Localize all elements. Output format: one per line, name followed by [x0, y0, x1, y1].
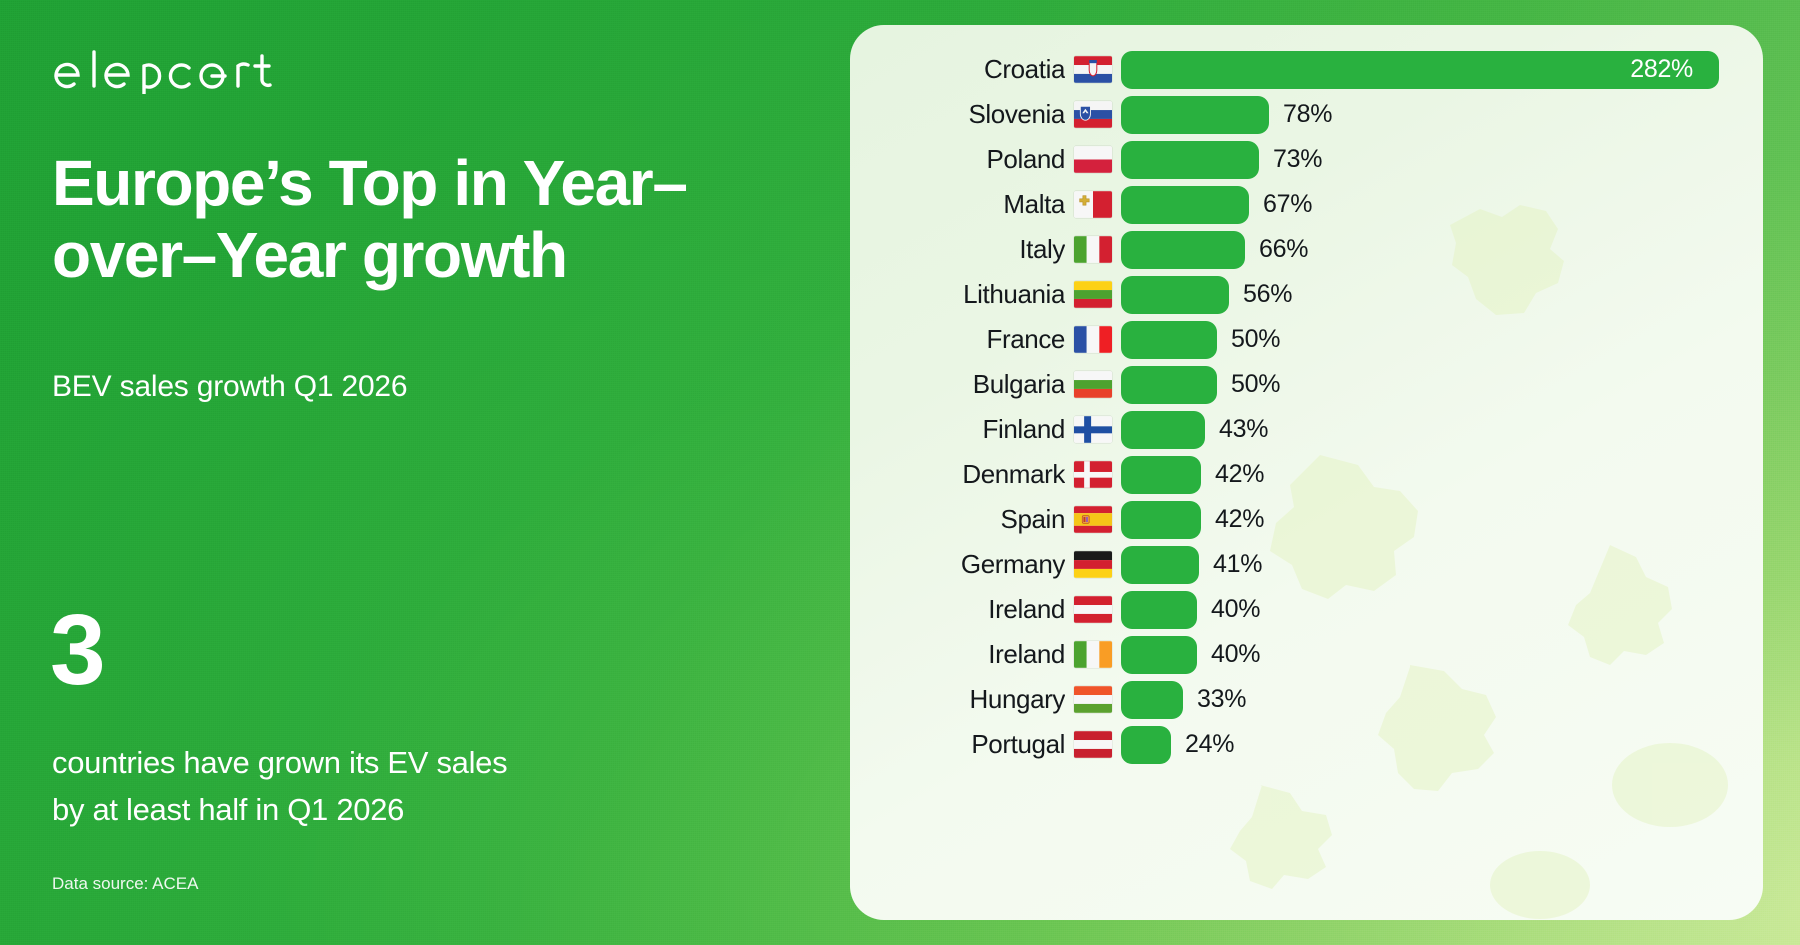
- bar-track: 50%: [1121, 362, 1763, 407]
- flag-es-icon: [1074, 506, 1112, 533]
- value-label: 43%: [1219, 415, 1268, 444]
- bar-row: Italy66%: [850, 227, 1763, 272]
- flag-cell: [1065, 371, 1121, 398]
- flag-cell: [1065, 731, 1121, 758]
- flag-pl-icon: [1074, 146, 1112, 173]
- flag-hr-icon: [1074, 56, 1112, 83]
- left-panel: Europe’s Top in Year– over–Year growth B…: [0, 0, 820, 945]
- flag-cell: [1065, 281, 1121, 308]
- value-bar: [1121, 231, 1245, 269]
- flag-de-icon: [1074, 551, 1112, 578]
- flag-cell: [1065, 641, 1121, 668]
- country-label: Poland: [850, 144, 1065, 175]
- value-bar: [1121, 636, 1197, 674]
- infographic-canvas: Europe’s Top in Year– over–Year growth B…: [0, 0, 1800, 945]
- value-label: 40%: [1211, 640, 1260, 669]
- flag-pt-icon: [1074, 731, 1112, 758]
- country-label: Finland: [850, 414, 1065, 445]
- country-label: Italy: [850, 234, 1065, 265]
- bar-row: Finland43%: [850, 407, 1763, 452]
- bar-track: 67%: [1121, 182, 1763, 227]
- stat-description: countries have grown its EV sales by at …: [52, 740, 752, 833]
- bar-row: Bulgaria50%: [850, 362, 1763, 407]
- country-label: Portugal: [850, 729, 1065, 760]
- country-label: Croatia: [850, 54, 1065, 85]
- bar-chart: Croatia282%Slovenia78%Poland73%Malta67%I…: [850, 25, 1763, 920]
- bar-row: Poland73%: [850, 137, 1763, 182]
- value-bar: [1121, 96, 1269, 134]
- country-label: Bulgaria: [850, 369, 1065, 400]
- value-bar: [1121, 546, 1199, 584]
- flag-ie-icon: [1074, 641, 1112, 668]
- bar-track: 73%: [1121, 137, 1763, 182]
- value-label: 66%: [1259, 235, 1308, 264]
- bar-row: France50%: [850, 317, 1763, 362]
- value-label: 50%: [1231, 325, 1280, 354]
- country-label: Germany: [850, 549, 1065, 580]
- page-title: Europe’s Top in Year– over–Year growth: [52, 148, 812, 291]
- bar-track: 42%: [1121, 497, 1763, 542]
- value-label: 42%: [1215, 505, 1264, 534]
- country-label: Spain: [850, 504, 1065, 535]
- flag-hu-icon: [1074, 686, 1112, 713]
- flag-mt-icon: [1074, 191, 1112, 218]
- flag-lt-icon: [1074, 281, 1112, 308]
- flag-it-icon: [1074, 236, 1112, 263]
- value-bar: 282%: [1121, 51, 1719, 89]
- value-bar: [1121, 366, 1217, 404]
- value-bar: [1121, 186, 1249, 224]
- bar-track: 33%: [1121, 677, 1763, 722]
- bar-row: Germany41%: [850, 542, 1763, 587]
- bar-track: 282%: [1121, 47, 1763, 92]
- bar-row: Hungary33%: [850, 677, 1763, 722]
- value-label: 282%: [1630, 55, 1719, 84]
- country-label: Ireland: [850, 594, 1065, 625]
- bar-track: 40%: [1121, 587, 1763, 632]
- flag-fi-icon: [1074, 416, 1112, 443]
- bar-track: 78%: [1121, 92, 1763, 137]
- flag-bg-icon: [1074, 371, 1112, 398]
- value-bar: [1121, 726, 1171, 764]
- chart-card: Croatia282%Slovenia78%Poland73%Malta67%I…: [850, 25, 1763, 920]
- value-label: 78%: [1283, 100, 1332, 129]
- headline-line-1: Europe’s Top in Year–: [52, 147, 687, 219]
- flag-cell: [1065, 326, 1121, 353]
- stat-line-1: countries have grown its EV sales: [52, 740, 752, 787]
- country-label: Denmark: [850, 459, 1065, 490]
- bar-row: Spain42%: [850, 497, 1763, 542]
- flag-cell: [1065, 686, 1121, 713]
- flag-cell: [1065, 461, 1121, 488]
- country-label: Malta: [850, 189, 1065, 220]
- value-label: 40%: [1211, 595, 1260, 624]
- subtitle: BEV sales growth Q1 2026: [52, 370, 407, 404]
- flag-cell: [1065, 506, 1121, 533]
- country-label: Lithuania: [850, 279, 1065, 310]
- bar-row: Lithuania56%: [850, 272, 1763, 317]
- bar-row: Ireland40%: [850, 632, 1763, 677]
- value-bar: [1121, 141, 1259, 179]
- value-bar: [1121, 411, 1205, 449]
- bar-row: Denmark42%: [850, 452, 1763, 497]
- country-label: Hungary: [850, 684, 1065, 715]
- flag-cell: [1065, 101, 1121, 128]
- value-label: 50%: [1231, 370, 1280, 399]
- flag-cell: [1065, 146, 1121, 173]
- bar-track: 50%: [1121, 317, 1763, 362]
- bar-track: 41%: [1121, 542, 1763, 587]
- flag-cell: [1065, 236, 1121, 263]
- flag-cell: [1065, 551, 1121, 578]
- value-label: 33%: [1197, 685, 1246, 714]
- bar-track: 40%: [1121, 632, 1763, 677]
- bar-row: Portugal24%: [850, 722, 1763, 767]
- bar-track: 43%: [1121, 407, 1763, 452]
- flag-si-icon: [1074, 101, 1112, 128]
- value-label: 67%: [1263, 190, 1312, 219]
- headline-line-2: over–Year growth: [52, 220, 812, 292]
- value-label: 56%: [1243, 280, 1292, 309]
- value-bar: [1121, 276, 1229, 314]
- bar-row: Malta67%: [850, 182, 1763, 227]
- value-label: 24%: [1185, 730, 1234, 759]
- bar-track: 66%: [1121, 227, 1763, 272]
- value-bar: [1121, 321, 1217, 359]
- bar-row: Croatia282%: [850, 47, 1763, 92]
- bar-row: Slovenia78%: [850, 92, 1763, 137]
- country-label: France: [850, 324, 1065, 355]
- bar-track: 42%: [1121, 452, 1763, 497]
- flag-cell: [1065, 56, 1121, 83]
- value-bar: [1121, 456, 1201, 494]
- data-source-note: Data source: ACEA: [52, 874, 198, 894]
- flag-cell: [1065, 191, 1121, 218]
- country-label: Slovenia: [850, 99, 1065, 130]
- stat-line-2: by at least half in Q1 2026: [52, 787, 752, 834]
- country-label: Ireland: [850, 639, 1065, 670]
- stat-number: 3: [50, 600, 104, 700]
- value-bar: [1121, 501, 1201, 539]
- flag-cell: [1065, 416, 1121, 443]
- value-bar: [1121, 591, 1197, 629]
- bar-track: 56%: [1121, 272, 1763, 317]
- bar-track: 24%: [1121, 722, 1763, 767]
- bar-row: Ireland40%: [850, 587, 1763, 632]
- eleport-logo: [52, 48, 302, 94]
- flag-cell: [1065, 596, 1121, 623]
- flag-fr-icon: [1074, 326, 1112, 353]
- value-label: 42%: [1215, 460, 1264, 489]
- value-bar: [1121, 681, 1183, 719]
- flag-dk-icon: [1074, 461, 1112, 488]
- value-label: 73%: [1273, 145, 1322, 174]
- value-label: 41%: [1213, 550, 1262, 579]
- flag-at-icon: [1074, 596, 1112, 623]
